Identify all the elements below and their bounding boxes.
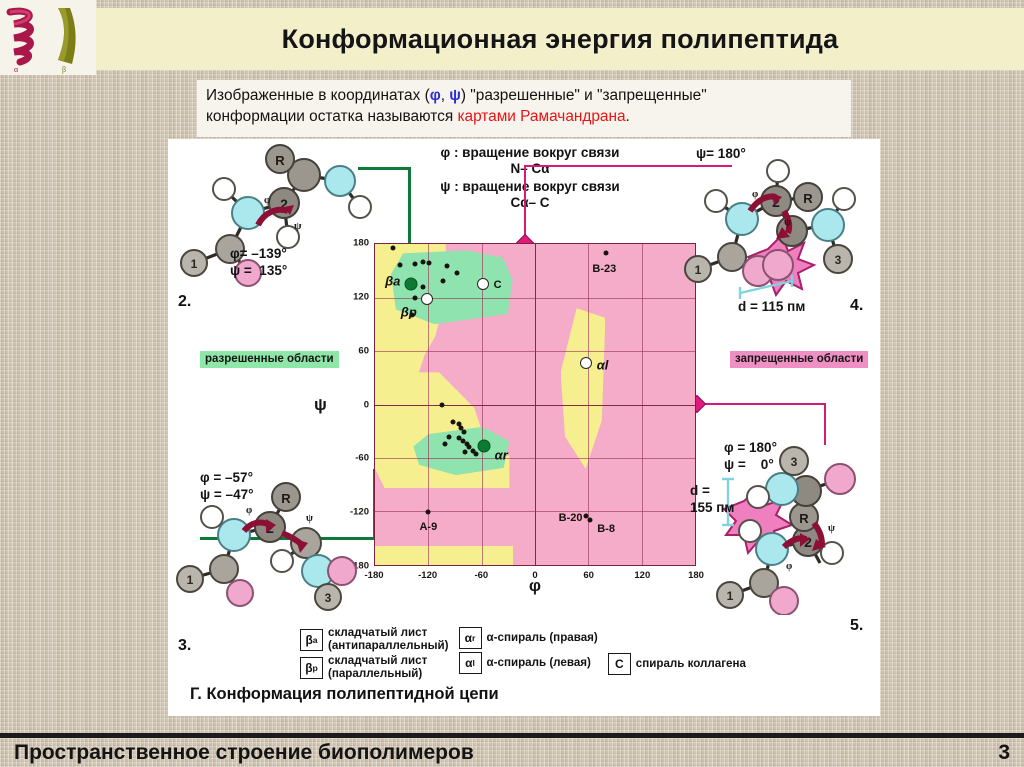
ramachandran-chart: βaβpCαlαrA-9B-23B-20B-8 -180-120-6006012… <box>374 243 696 566</box>
molecule-2-angles: φ= –139° ψ = 135° <box>230 245 287 280</box>
svg-text:3: 3 <box>791 455 798 469</box>
svg-text:ψ: ψ <box>306 513 313 524</box>
legend: βa складчатый лист (антипараллельный) βp… <box>300 627 860 679</box>
x-tick--60: -60 <box>474 570 488 581</box>
legend-text-collagen: спираль коллагена <box>636 658 746 671</box>
psi-bond: Cα– C <box>420 195 640 211</box>
legend-item-beta-p: βp складчатый лист (параллельный) <box>300 655 449 680</box>
phi-bond: N– Cα <box>420 161 640 177</box>
caption-highlight: картами Рамачандрана <box>457 108 625 125</box>
phi-definition: φ : вращение вокруг связи <box>420 145 640 161</box>
y-tick-60: 60 <box>358 345 369 356</box>
molecule-5-angles: φ = 180° ψ = 0° <box>724 439 777 474</box>
logo-artwork: α β <box>0 0 96 75</box>
legend-item-alpha-r: αr α-спираль (правая) <box>459 627 598 649</box>
page-title: Конформационная энергия полипептида <box>282 24 839 55</box>
connector-green-top-vertical <box>408 167 411 245</box>
molecule-5: 1 2 R 3 φ ψ <box>688 435 888 615</box>
caption-text-a: Изображенные в координатах ( <box>206 87 430 104</box>
legend-group-alpha: αr α-спираль (правая) αl α-спираль (лева… <box>459 627 598 674</box>
x-axis-ticks: -180-120-60060120180 <box>374 243 696 566</box>
legend-symbol-alpha-l: αl <box>459 652 482 674</box>
footer: Пространственное строение биополимеров 3 <box>0 738 1024 767</box>
x-tick-120: 120 <box>634 570 650 581</box>
svg-text:φ: φ <box>264 195 270 206</box>
logo: α β <box>0 0 96 75</box>
svg-text:1: 1 <box>187 573 194 587</box>
molecule-2-number: 2. <box>178 293 191 311</box>
figure-caption: Г. Конформация полипептидной цепи <box>190 685 499 704</box>
legend-symbol-collagen: C <box>608 653 631 675</box>
caption-text-c: конформации остатка называются <box>206 108 457 125</box>
page-number: 3 <box>998 741 1010 765</box>
logo-alpha-label: α <box>14 65 19 74</box>
svg-text:φ: φ <box>786 561 792 572</box>
caption-line-2: конформации остатка называются картами Р… <box>206 107 842 128</box>
molecule-5-distance: d = 155 пм <box>690 483 734 517</box>
svg-text:ψ: ψ <box>294 220 302 232</box>
svg-text:R: R <box>275 153 285 168</box>
legend-group-beta: βa складчатый лист (антипараллельный) βp… <box>300 627 449 680</box>
molecule-4-psi: ψ= 180° <box>696 145 746 162</box>
legend-item-alpha-l: αl α-спираль (левая) <box>459 652 598 674</box>
svg-text:ψ: ψ <box>784 217 791 228</box>
svg-text:ψ: ψ <box>828 523 835 534</box>
svg-text:1: 1 <box>191 257 198 271</box>
molecule-3-number: 3. <box>178 637 191 655</box>
beta-strand-icon <box>58 8 76 64</box>
psi-definition: ψ : вращение вокруг связи <box>420 179 640 195</box>
angle-definitions: φ : вращение вокруг связи N– Cα ψ : вращ… <box>420 145 640 211</box>
legend-text-beta-a: складчатый лист (антипараллельный) <box>328 627 449 652</box>
chip-forbidden-regions: запрещенные области <box>730 351 868 368</box>
title-band: Конформационная энергия полипептида <box>96 8 1024 70</box>
molecule-3-angles: φ = –57° ψ = –47° <box>200 469 253 504</box>
legend-group-collagen: C спираль коллагена <box>608 627 746 675</box>
caption-period: . <box>626 108 630 125</box>
svg-text:R: R <box>281 491 291 506</box>
x-axis-label: φ <box>529 576 541 596</box>
legend-item-beta-a: βa складчатый лист (антипараллельный) <box>300 627 449 652</box>
y-axis-label: ψ <box>314 395 327 415</box>
caption-line-1: Изображенные в координатах (φ, ψ) "разре… <box>206 86 842 107</box>
x-tick-60: 60 <box>583 570 594 581</box>
legend-symbol-beta-a: βa <box>300 629 323 651</box>
svg-text:φ: φ <box>752 189 758 200</box>
molecule-4: 1 2 R 3 φ ψ <box>680 153 880 303</box>
molecule-4-distance: d = 115 пм <box>738 299 805 316</box>
chip-allowed-regions: разрешенные области <box>200 351 339 368</box>
footer-text: Пространственное строение биополимеров <box>14 741 474 765</box>
legend-text-alpha-r: α-спираль (правая) <box>487 632 598 645</box>
svg-text:R: R <box>803 191 813 206</box>
svg-text:1: 1 <box>695 263 702 277</box>
connector-magenta-right-horizontal <box>696 403 826 405</box>
legend-text-beta-p: складчатый лист (параллельный) <box>328 655 427 680</box>
x-tick--120: -120 <box>418 570 437 581</box>
caption-comma: , <box>441 87 450 104</box>
legend-text-alpha-l: α-спираль (левая) <box>487 657 591 670</box>
svg-text:φ: φ <box>246 505 252 516</box>
phi-symbol: φ <box>430 87 441 104</box>
alpha-helix-icon <box>10 11 31 62</box>
svg-text:1: 1 <box>727 589 734 603</box>
caption-text-b: ) "разрешенные" и "запрещенные" <box>461 87 707 104</box>
caption-box: Изображенные в координатах (φ, ψ) "разре… <box>197 80 851 137</box>
psi-symbol: ψ <box>449 87 461 104</box>
y-tick-120: 120 <box>353 291 369 302</box>
figure-panel: φ : вращение вокруг связи N– Cα ψ : вращ… <box>168 139 880 716</box>
legend-symbol-alpha-r: αr <box>459 627 482 649</box>
svg-text:3: 3 <box>835 253 842 267</box>
molecule-4-number: 4. <box>850 297 863 315</box>
svg-text:R: R <box>799 511 809 526</box>
legend-item-collagen: C спираль коллагена <box>608 653 746 675</box>
logo-beta-label: β <box>62 65 66 74</box>
legend-symbol-beta-p: βp <box>300 657 323 679</box>
svg-text:3: 3 <box>325 591 332 605</box>
y-tick-0: 0 <box>364 399 369 410</box>
